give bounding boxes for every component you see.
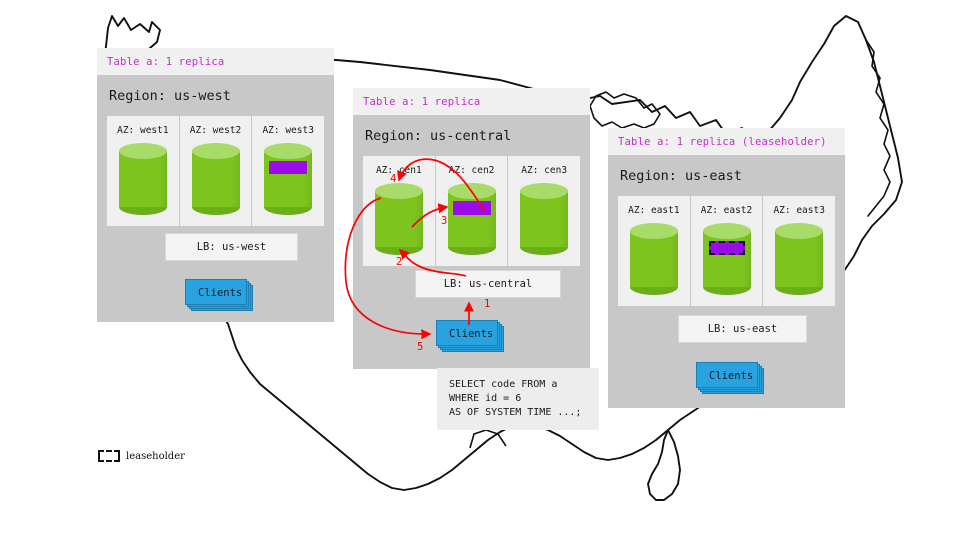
node-cylinder-east1[interactable] [630, 223, 678, 295]
cylinder-shading [669, 231, 678, 287]
clients-stack-us-west[interactable]: Clients [185, 279, 247, 305]
clients-label-us-central[interactable]: Clients [436, 320, 498, 346]
cylinder-top [630, 223, 678, 239]
cylinder-shading [304, 151, 313, 207]
cylinder-shading [487, 191, 496, 247]
cylinder-top [119, 143, 167, 159]
dashed-rect-icon [98, 450, 120, 462]
cylinder-top [520, 183, 568, 199]
node-cylinder-east2[interactable] [703, 223, 751, 295]
clients-stack-us-east[interactable]: Clients [696, 362, 758, 388]
cylinder-shading [414, 191, 423, 247]
clients-label-us-east[interactable]: Clients [696, 362, 758, 388]
node-cylinder-cen3[interactable] [520, 183, 568, 255]
region-title-us-east: Region: us-east [608, 155, 845, 196]
az-label-east1: AZ: east1 [628, 205, 679, 216]
az-cell-cen2[interactable]: AZ: cen2 [436, 156, 509, 266]
cylinder-top [448, 183, 496, 199]
cylinder-shading [158, 151, 167, 207]
az-cell-east2[interactable]: AZ: east2 [691, 196, 764, 306]
region-panel-us-west: Table a: 1 replica Region: us-west AZ: w… [97, 48, 334, 322]
load-balancer-us-central[interactable]: LB: us-central [415, 270, 561, 298]
az-label-cen2: AZ: cen2 [449, 165, 495, 176]
az-row-us-central: AZ: cen1 AZ: cen2 [363, 156, 580, 266]
region-title-us-west: Region: us-west [97, 75, 334, 116]
sql-query-box: SELECT code FROM a WHERE id = 6 AS OF SY… [437, 368, 599, 430]
az-cell-west3[interactable]: AZ: west3 [252, 116, 324, 226]
az-cell-cen1[interactable]: AZ: cen1 [363, 156, 436, 266]
replica-range-west3[interactable] [269, 161, 307, 174]
az-label-west2: AZ: west2 [190, 125, 241, 136]
legend-label: leaseholder [126, 451, 185, 462]
az-label-east3: AZ: east3 [773, 205, 824, 216]
cylinder-top [264, 143, 312, 159]
az-cell-east1[interactable]: AZ: east1 [618, 196, 691, 306]
cylinder-top [192, 143, 240, 159]
region-header-us-east: Table a: 1 replica (leaseholder) [608, 128, 845, 155]
clients-label-us-west[interactable]: Clients [185, 279, 247, 305]
region-panel-us-central: Table a: 1 replica Region: us-central AZ… [353, 88, 590, 369]
diagram-canvas: Table a: 1 replica Region: us-west AZ: w… [0, 0, 960, 540]
node-cylinder-cen2[interactable] [448, 183, 496, 255]
az-cell-cen3[interactable]: AZ: cen3 [508, 156, 580, 266]
cylinder-top [775, 223, 823, 239]
az-label-west1: AZ: west1 [117, 125, 168, 136]
load-balancer-us-west[interactable]: LB: us-west [165, 233, 298, 261]
node-cylinder-west2[interactable] [192, 143, 240, 215]
cylinder-shading [560, 191, 569, 247]
leaseholder-replica-east2[interactable] [709, 241, 745, 255]
region-title-us-central: Region: us-central [353, 115, 590, 156]
clients-stack-us-central[interactable]: Clients [436, 320, 498, 346]
cylinder-top [375, 183, 423, 199]
node-cylinder-cen1[interactable] [375, 183, 423, 255]
az-row-us-west: AZ: west1 AZ: west2 [107, 116, 324, 226]
az-label-east2: AZ: east2 [701, 205, 752, 216]
az-row-us-east: AZ: east1 AZ: east2 [618, 196, 835, 306]
az-cell-east3[interactable]: AZ: east3 [763, 196, 835, 306]
legend: leaseholder [98, 450, 185, 462]
az-cell-west1[interactable]: AZ: west1 [107, 116, 180, 226]
region-header-us-west: Table a: 1 replica [97, 48, 334, 75]
cylinder-top [703, 223, 751, 239]
replica-range-cen2[interactable] [453, 201, 491, 215]
az-label-west3: AZ: west3 [262, 125, 313, 136]
cylinder-shading [231, 151, 240, 207]
region-header-us-central: Table a: 1 replica [353, 88, 590, 115]
cylinder-shading [742, 231, 751, 287]
node-cylinder-west3[interactable] [264, 143, 312, 215]
az-label-cen1: AZ: cen1 [376, 165, 422, 176]
cylinder-shading [815, 231, 824, 287]
az-cell-west2[interactable]: AZ: west2 [180, 116, 253, 226]
az-label-cen3: AZ: cen3 [521, 165, 567, 176]
region-panel-us-east: Table a: 1 replica (leaseholder) Region:… [608, 128, 845, 408]
load-balancer-us-east[interactable]: LB: us-east [678, 315, 807, 343]
node-cylinder-east3[interactable] [775, 223, 823, 295]
node-cylinder-west1[interactable] [119, 143, 167, 215]
